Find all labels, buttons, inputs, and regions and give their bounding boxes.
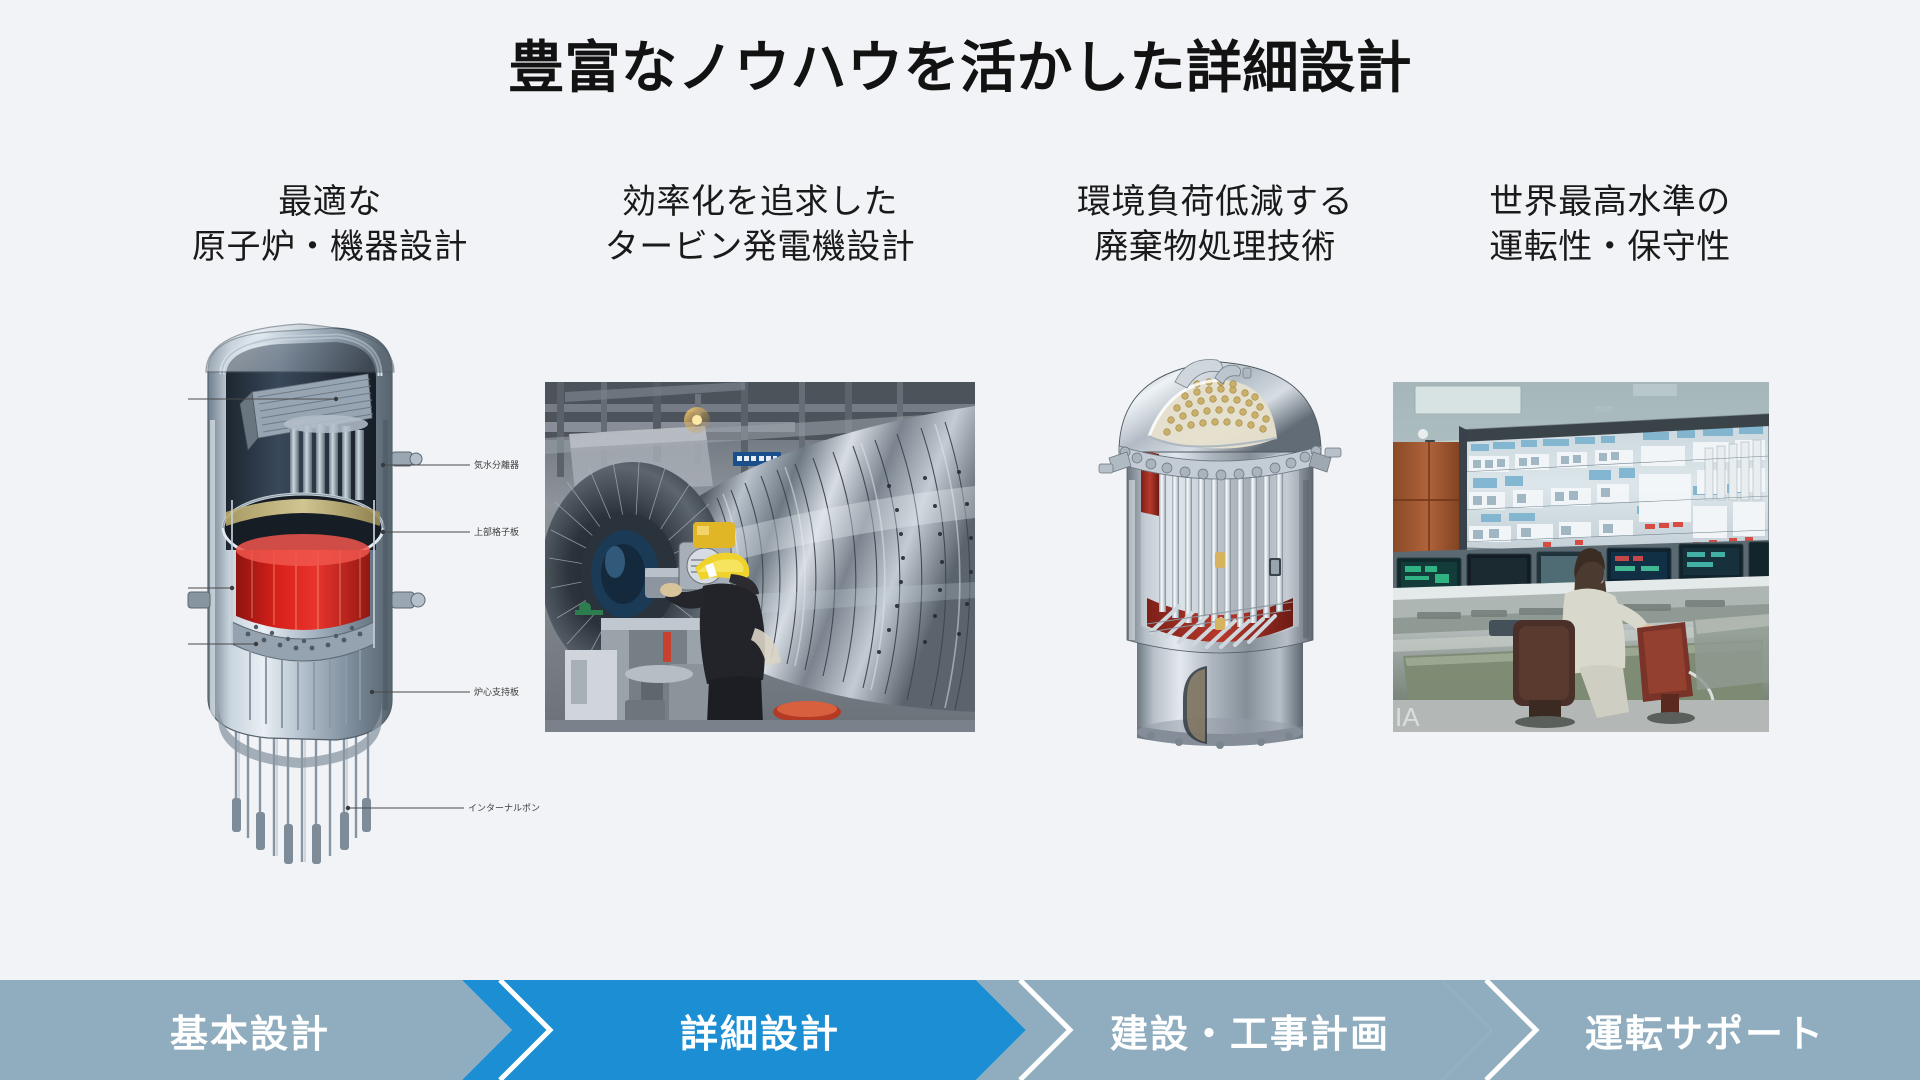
figure-central-control-room-photo: IA xyxy=(1393,382,1769,732)
internal-pump-shafts xyxy=(232,720,371,864)
callout-label: 炉心支持板 xyxy=(474,686,519,697)
column-heading-line1: 最適な xyxy=(278,183,382,221)
vessel-dome-head xyxy=(1119,359,1321,452)
page-title: 豊富なノウハウを活かした詳細設計 xyxy=(0,36,1920,100)
step-item-basic-design[interactable]: 基本設計 xyxy=(0,980,500,1080)
tube-fitting xyxy=(1215,552,1225,568)
column-heading-line2: 原子炉・機器設計 xyxy=(120,225,540,270)
photo-watermark: IA xyxy=(1395,702,1420,732)
column-heading-line1: 効率化を追求した xyxy=(622,183,898,221)
step-item-detailed-design[interactable]: 詳細設計 xyxy=(510,980,1010,1080)
column-heading-line2: タービン発電機設計 xyxy=(545,225,975,270)
column-heading-turbine: 効率化を追求した タービン発電機設計 xyxy=(545,180,975,270)
floor xyxy=(1393,700,1769,732)
reactor-cutaway-svg: 蒸気乾燥器 気水分離器 上部格子板 シュラウド 燃料集合体 xyxy=(140,300,540,900)
work-lamp xyxy=(684,407,710,433)
vessel-skirt xyxy=(1137,640,1303,749)
process-stepper: 基本設計 詳細設計 建設・工事計画 運転サポート xyxy=(0,980,1920,1080)
mimic-display-board xyxy=(1459,414,1769,558)
column-heading-line2: 廃棄物処理技術 xyxy=(1000,225,1430,270)
column-heading-reactor: 最適な 原子炉・機器設計 xyxy=(120,180,540,270)
control-room-photo-svg: IA xyxy=(1393,382,1769,732)
slide-root: 豊富なノウハウを活かした詳細設計 最適な 原子炉・機器設計 効率化を追求した タ… xyxy=(0,0,1920,1080)
step-item-construction-plan[interactable]: 建設・工事計画 xyxy=(1020,980,1480,1080)
callout-label: インターナルポンプ xyxy=(468,803,540,813)
turbine-photo-svg xyxy=(545,382,975,732)
step-label: 運転サポート xyxy=(1585,1003,1825,1058)
worker-legs xyxy=(707,676,763,724)
ceiling-light-panel xyxy=(1415,386,1521,414)
callout-label: 上部格子板 xyxy=(474,526,519,537)
wood-wall-panel xyxy=(1393,442,1463,552)
column-headings: 最適な 原子炉・機器設計 効率化を追求した タービン発電機設計 環境負荷低減する… xyxy=(0,180,1920,300)
step-label: 詳細設計 xyxy=(680,1003,840,1058)
worker-hand xyxy=(660,583,682,597)
reactor-core-fuel xyxy=(236,534,370,630)
figure-waste-treatment-vessel-cutaway xyxy=(1075,340,1365,760)
step-label: 基本設計 xyxy=(170,1003,330,1058)
step-item-operation-support[interactable]: 運転サポート xyxy=(1490,980,1920,1080)
step-label: 建設・工事計画 xyxy=(1110,1003,1390,1058)
ceiling-downlight xyxy=(1418,429,1428,439)
column-heading-line1: 世界最高水準の xyxy=(1489,183,1731,221)
reactor-vessel-head xyxy=(206,324,394,372)
figure-turbine-rotor-assembly-photo xyxy=(545,382,975,732)
figure-reactor-pressure-vessel-cutaway: 蒸気乾燥器 気水分離器 上部格子板 シュラウド 燃料集合体 xyxy=(140,300,540,900)
column-heading-waste: 環境負荷低減する 廃棄物処理技術 xyxy=(1000,180,1430,270)
callout-label: 気水分離器 xyxy=(474,459,519,470)
column-heading-line2: 運転性・保守性 xyxy=(1400,225,1820,270)
column-heading-operation: 世界最高水準の 運転性・保守性 xyxy=(1400,180,1820,270)
column-heading-line1: 環境負荷低減する xyxy=(1077,183,1353,221)
waste-vessel-svg xyxy=(1075,340,1365,760)
